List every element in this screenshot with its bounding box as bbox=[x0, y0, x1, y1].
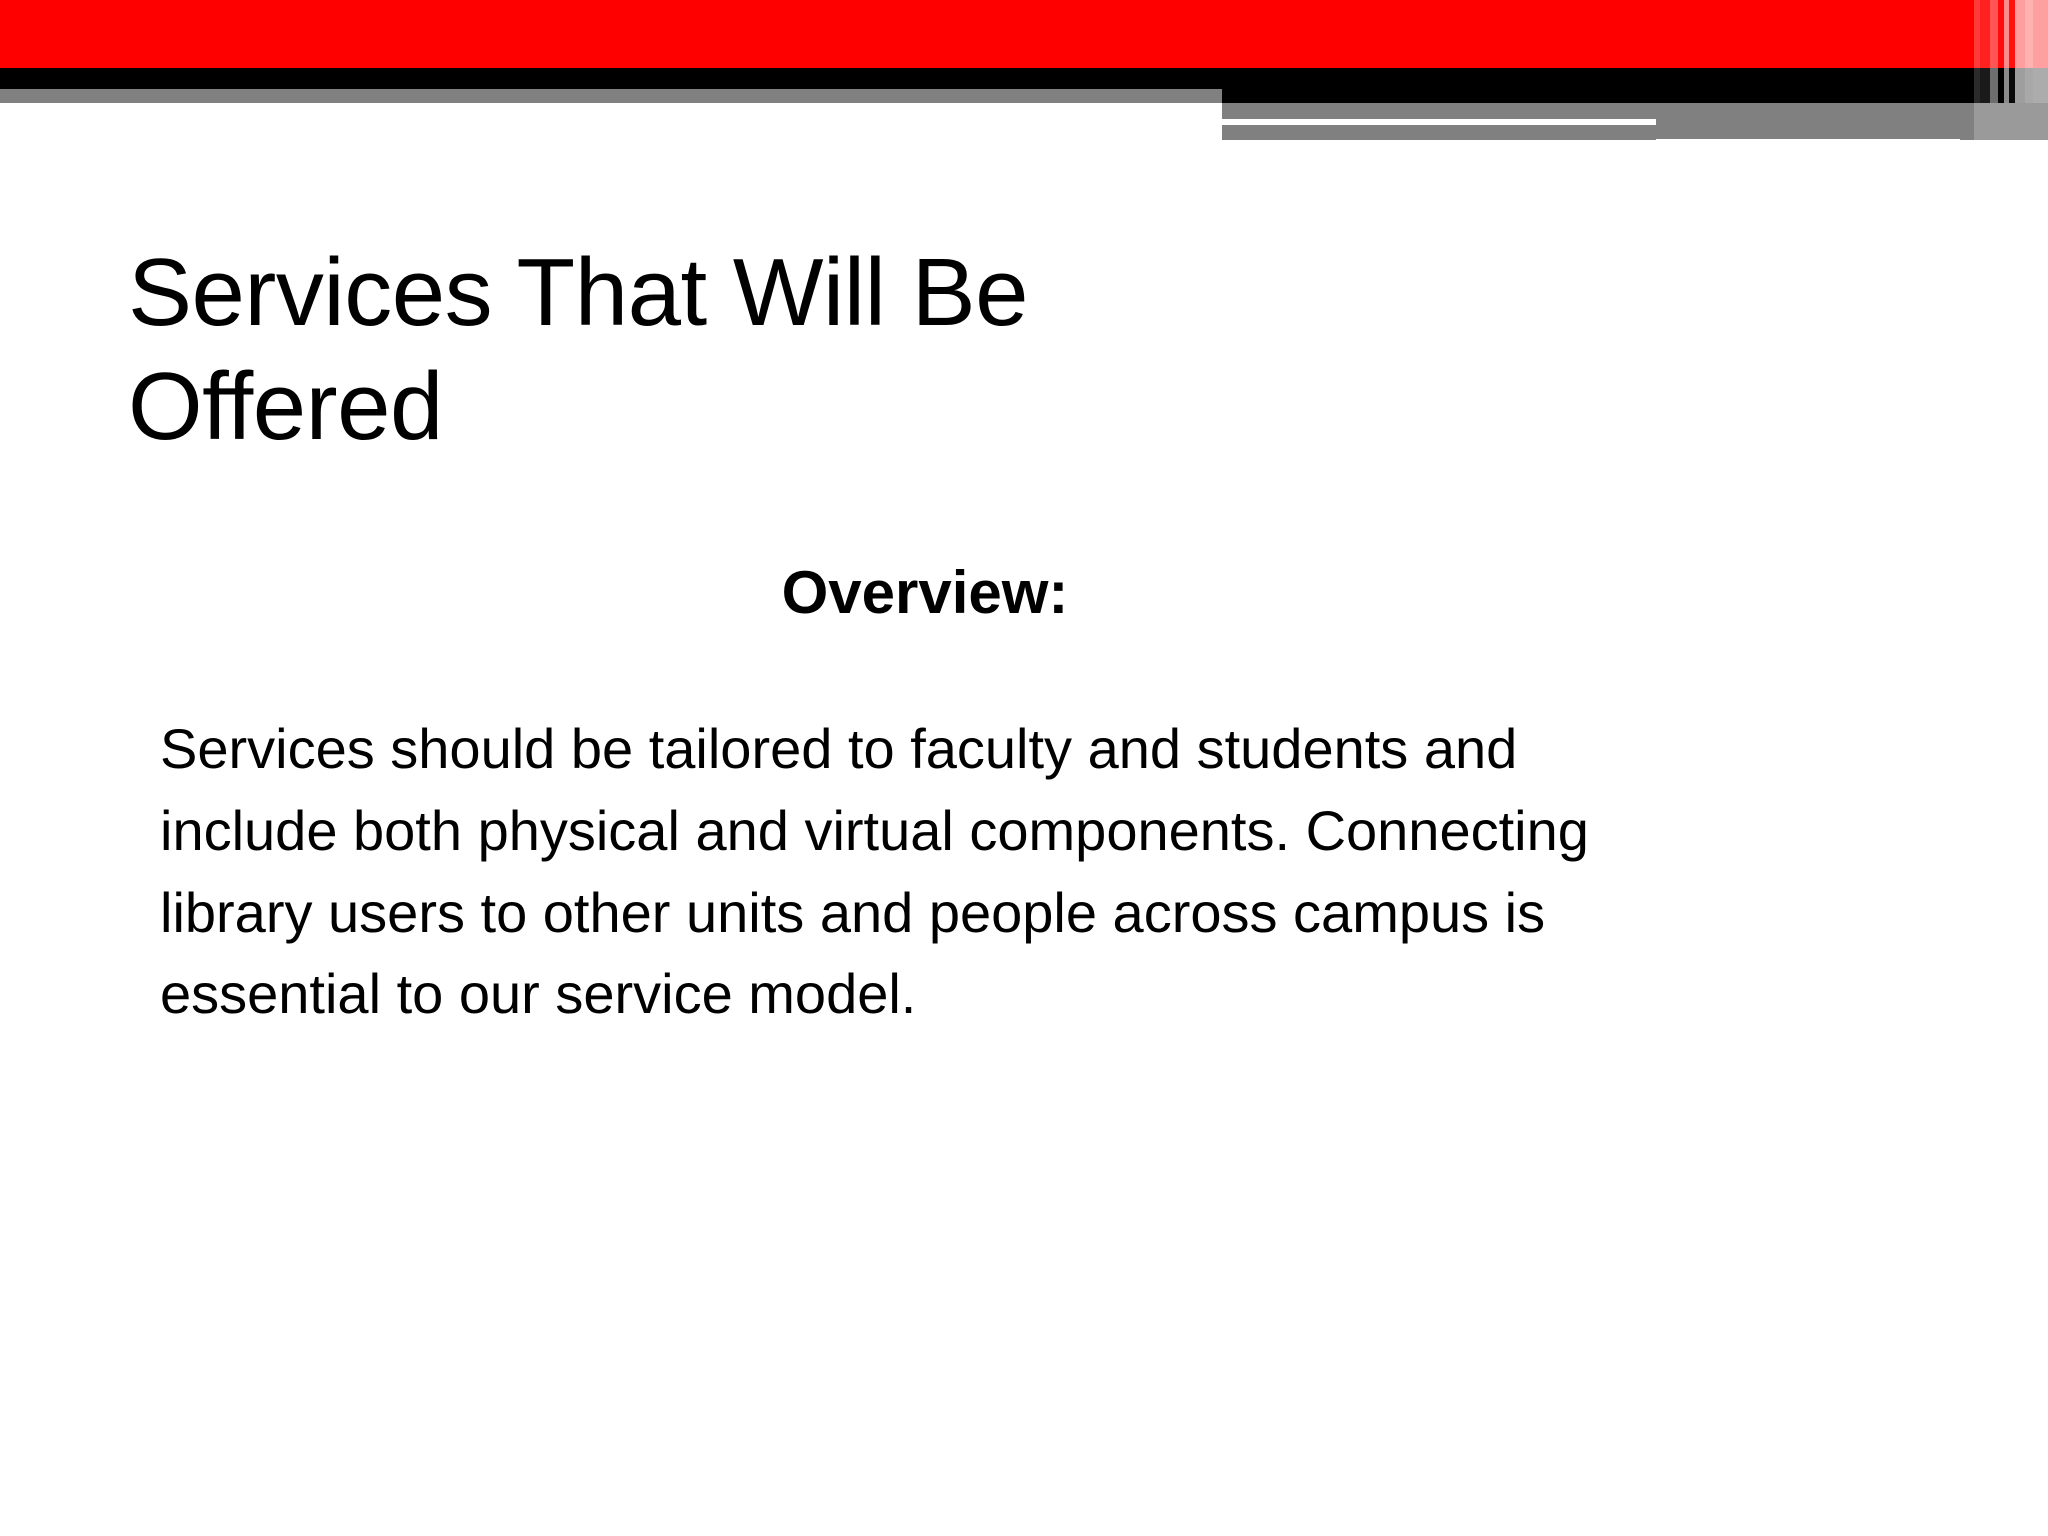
banner-black-band-right bbox=[1222, 68, 2048, 103]
banner-black-band-left bbox=[0, 68, 1222, 89]
overview-paragraph: Services should be tailored to faculty a… bbox=[160, 626, 1860, 1035]
slide-title-line-2: Offered bbox=[128, 350, 1278, 463]
slide-content: Overview: Services should be tailored to… bbox=[160, 560, 1860, 1035]
overview-paragraph-line-2: include both physical and virtual compon… bbox=[160, 790, 1860, 872]
overview-paragraph-line-1: Services should be tailored to faculty a… bbox=[160, 708, 1860, 790]
header-banner bbox=[0, 0, 2048, 140]
banner-gray-band-right-upper bbox=[1222, 103, 2048, 119]
banner-edge-stripe-4 bbox=[1990, 0, 1998, 140]
banner-red-band bbox=[0, 0, 2048, 68]
slide-title: Services That Will Be Offered bbox=[128, 236, 1278, 463]
banner-edge-stripe-9 bbox=[2025, 0, 2033, 140]
slide-title-line-1: Services That Will Be bbox=[128, 236, 1278, 349]
slide-canvas: Services That Will Be Offered Overview: … bbox=[0, 0, 2048, 1536]
overview-paragraph-line-4: essential to our service model. bbox=[160, 953, 1860, 1035]
overview-paragraph-line-3: library users to other units and people … bbox=[160, 872, 1860, 954]
overview-heading: Overview: bbox=[160, 560, 1860, 626]
banner-edge-stripe-1 bbox=[1960, 0, 1974, 140]
banner-edge-stripe-10 bbox=[2033, 0, 2048, 140]
banner-edge-stripes bbox=[1960, 0, 2048, 140]
banner-edge-stripe-3 bbox=[1980, 0, 1990, 140]
banner-gray-band-left bbox=[0, 89, 1222, 103]
banner-edge-stripe-8 bbox=[2015, 0, 2025, 140]
banner-gray-band-right-lower bbox=[1222, 125, 1656, 140]
